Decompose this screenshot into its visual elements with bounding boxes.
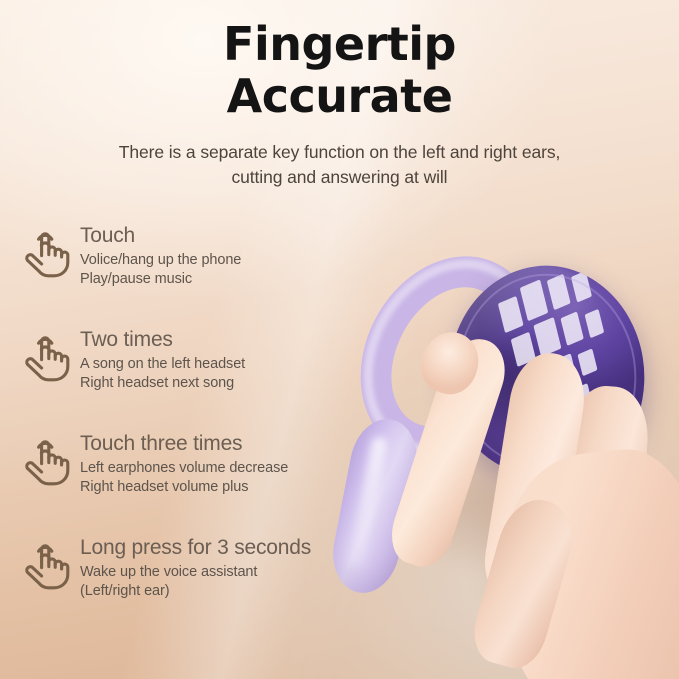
feature-line: (Left/right ear) (80, 582, 374, 601)
title-line-1: Fingertip (0, 18, 679, 70)
feature-line: Wake up the voice assistant (80, 563, 374, 582)
hand-illustration (330, 240, 679, 679)
feature-line: Left earphones volume decrease (80, 459, 374, 478)
subtitle-line-1: There is a separate key function on the … (44, 140, 635, 165)
tap-gesture-icon (22, 539, 72, 591)
feature-line: A song on the left headset (80, 355, 374, 374)
feature-item-two-times: Two times A song on the left headset Rig… (22, 327, 374, 431)
feature-line: Right headset volume plus (80, 478, 374, 497)
poster-title: Fingertip Accurate (0, 18, 679, 122)
feature-item-touch-three-times: Touch three times Left earphones volume … (22, 431, 374, 535)
feature-line: Volice/hang up the phone (80, 251, 374, 270)
product-feature-poster: Fingertip Accurate There is a separate k… (0, 0, 679, 679)
title-line-2: Accurate (0, 70, 679, 122)
feature-line: Play/pause music (80, 270, 374, 289)
feature-item-long-press: Long press for 3 seconds Wake up the voi… (22, 535, 374, 639)
poster-subtitle: There is a separate key function on the … (44, 140, 635, 190)
subtitle-line-2: cutting and answering at will (44, 165, 635, 190)
feature-item-touch: Touch Volice/hang up the phone Play/paus… (22, 223, 374, 327)
feature-line: Right headset next song (80, 374, 374, 393)
feature-heading: Touch three times (80, 431, 374, 456)
tap-gesture-icon (22, 331, 72, 383)
product-image-earbud-with-hand (330, 240, 679, 679)
tap-gesture-icon (22, 227, 72, 279)
tap-gesture-icon (22, 435, 72, 487)
feature-heading: Two times (80, 327, 374, 352)
feature-heading: Touch (80, 223, 374, 248)
feature-heading: Long press for 3 seconds (80, 535, 374, 560)
feature-list: Touch Volice/hang up the phone Play/paus… (22, 223, 374, 639)
